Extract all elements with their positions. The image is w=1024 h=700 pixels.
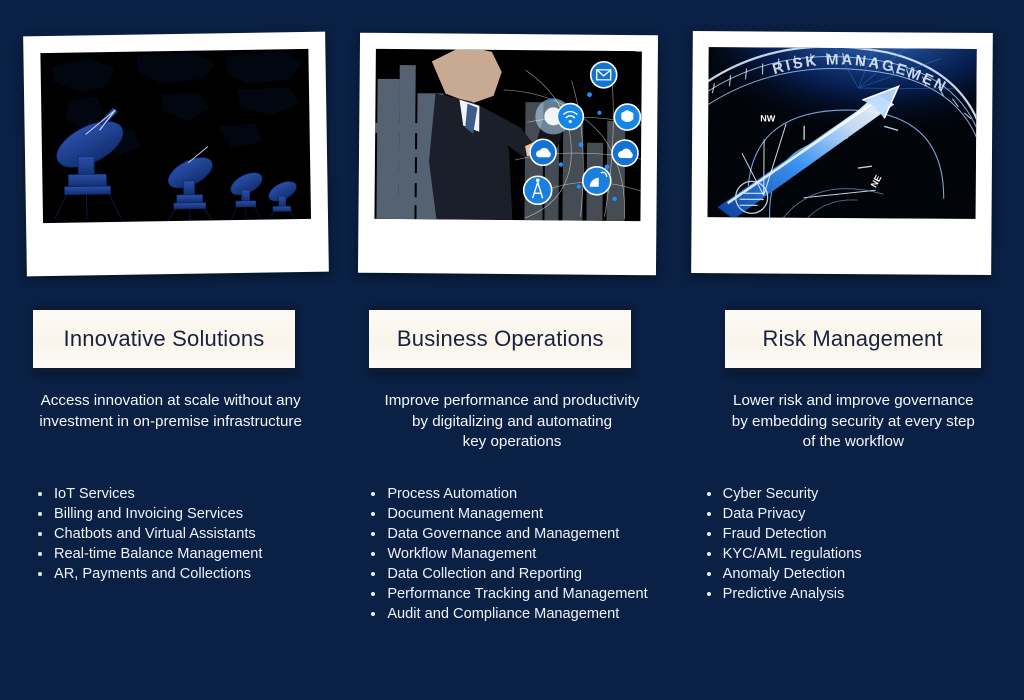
title-plaque-innovative-solutions: Innovative Solutions (33, 306, 295, 372)
list-item-label: Document Management (387, 506, 543, 522)
list-item: Fraud Detection (705, 524, 1005, 544)
list-item-label: Anomaly Detection (723, 566, 846, 582)
list-item: Predictive Analysis (705, 584, 1005, 604)
list-item: Anomaly Detection (705, 564, 1005, 584)
photo-frame-business-operations (358, 33, 658, 276)
title-plaque-risk-management: Risk Management (725, 306, 981, 372)
list-item: Document Management (369, 504, 669, 524)
list-item-label: Workflow Management (387, 546, 536, 562)
column-title: Risk Management (763, 326, 943, 352)
feature-list-innovative-solutions: IoT Services Billing and Invoicing Servi… (36, 484, 326, 584)
risk-management-compass-photo: RISK MANAGEMENT (707, 47, 976, 219)
list-item-label: Data Privacy (723, 506, 806, 522)
list-item: Process Automation (369, 484, 669, 504)
column-description: Access innovation at scale without any i… (0, 391, 341, 432)
feature-list-business-operations: Process Automation Document Management D… (369, 484, 669, 624)
bullet-dot-icon (38, 492, 42, 496)
list-item-label: IoT Services (54, 486, 135, 502)
list-item-label: Cyber Security (723, 486, 819, 502)
list-item: Billing and Invoicing Services (36, 504, 326, 524)
list-item: Real-time Balance Management (36, 544, 326, 564)
three-column-layout: Innovative Solutions Access innovation a… (0, 0, 1024, 700)
bullet-dot-icon (38, 512, 42, 516)
list-item: Performance Tracking and Management (369, 584, 669, 604)
list-item-label: Performance Tracking and Management (387, 586, 647, 602)
list-item-label: Audit and Compliance Management (387, 606, 619, 622)
list-item-label: AR, Payments and Collections (54, 566, 251, 582)
list-item-label: Fraud Detection (723, 526, 827, 542)
list-item-label: Data Governance and Management (387, 526, 619, 542)
compass-icon: RISK MANAGEMENT (707, 47, 976, 219)
bullet-dot-icon (371, 492, 375, 496)
column-risk-management: RISK MANAGEMENT (683, 0, 1024, 700)
list-item: Audit and Compliance Management (369, 604, 669, 624)
bullet-dot-icon (707, 592, 711, 596)
list-item-label: KYC/AML regulations (723, 546, 862, 562)
bullet-dot-icon (707, 512, 711, 516)
photo-frame-risk-management: RISK MANAGEMENT (691, 31, 993, 275)
bullet-dot-icon (38, 572, 42, 576)
list-item-label: Billing and Invoicing Services (54, 506, 243, 522)
column-title: Business Operations (397, 326, 604, 352)
bullet-dot-icon (371, 572, 375, 576)
list-item-label: Predictive Analysis (723, 586, 845, 602)
satellite-dish-array-icon (40, 49, 311, 223)
column-title: Innovative Solutions (64, 326, 265, 352)
list-item: Data Privacy (705, 504, 1005, 524)
list-item-label: Real-time Balance Management (54, 546, 262, 562)
bullet-dot-icon (707, 532, 711, 536)
bullet-dot-icon (707, 552, 711, 556)
column-innovative-solutions: Innovative Solutions Access innovation a… (0, 0, 341, 700)
column-description: Lower risk and improve governance by emb… (683, 391, 1024, 453)
city-skyline-icon (375, 49, 642, 221)
bullet-dot-icon (38, 552, 42, 556)
bullet-dot-icon (371, 552, 375, 556)
list-item: IoT Services (36, 484, 326, 504)
list-item: KYC/AML regulations (705, 544, 1005, 564)
list-item: Data Governance and Management (369, 524, 669, 544)
list-item-label: Chatbots and Virtual Assistants (54, 526, 256, 542)
slide-root: Innovative Solutions Access innovation a… (0, 0, 1024, 700)
bullet-dot-icon (707, 492, 711, 496)
bullet-dot-icon (371, 512, 375, 516)
photo-frame-innovative-solutions (23, 32, 329, 277)
bullet-dot-icon (371, 612, 375, 616)
list-item: AR, Payments and Collections (36, 564, 326, 584)
list-item: Cyber Security (705, 484, 1005, 504)
satellite-dishes-photo (40, 49, 311, 223)
businessman-iot-network-photo (375, 49, 642, 221)
bullet-dot-icon (371, 532, 375, 536)
title-plaque-business-operations: Business Operations (369, 306, 631, 372)
list-item: Data Collection and Reporting (369, 564, 669, 584)
bullet-dot-icon (38, 532, 42, 536)
list-item-label: Data Collection and Reporting (387, 566, 582, 582)
bullet-dot-icon (371, 592, 375, 596)
column-business-operations: Business Operations Improve performance … (341, 0, 682, 700)
list-item: Chatbots and Virtual Assistants (36, 524, 326, 544)
list-item: Workflow Management (369, 544, 669, 564)
column-description: Improve performance and productivity by … (341, 391, 682, 453)
compass-label-nw: NW (760, 113, 776, 123)
list-item-label: Process Automation (387, 486, 517, 502)
bullet-dot-icon (707, 572, 711, 576)
feature-list-risk-management: Cyber Security Data Privacy Fraud Detect… (705, 484, 1005, 604)
